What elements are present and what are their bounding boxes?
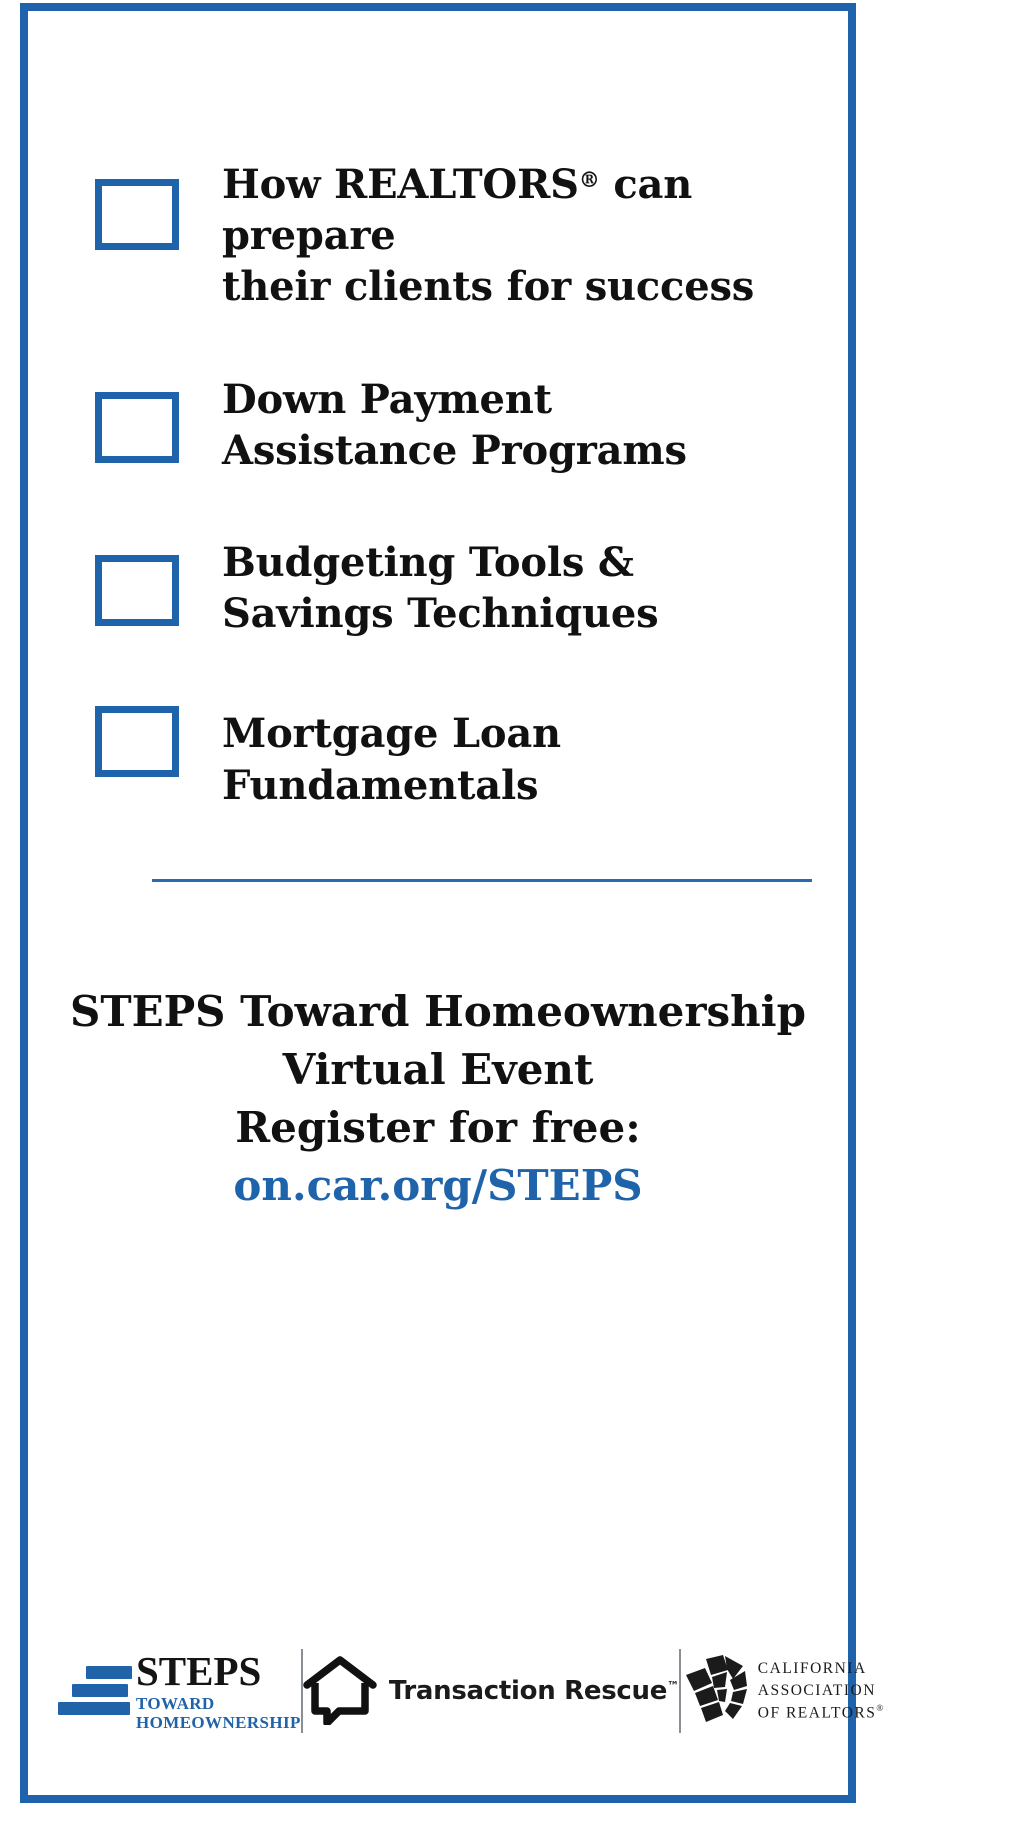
car-logo: CALIFORNIA ASSOCIATION OF REALTORS® bbox=[681, 1653, 883, 1729]
car-line-1: CALIFORNIA bbox=[758, 1658, 883, 1680]
registered-trademark-icon: ® bbox=[579, 167, 600, 192]
checkbox-icon[interactable] bbox=[95, 392, 179, 463]
steps-logo: STEPS TOWARD HOMEOWNERSHIP bbox=[58, 1651, 301, 1731]
checklist-item-label: Down Payment Assistance Programs bbox=[222, 374, 687, 476]
registered-trademark-icon: ® bbox=[876, 1703, 883, 1713]
trademark-icon: ™ bbox=[667, 1679, 679, 1693]
checkbox-icon[interactable] bbox=[95, 706, 179, 777]
car-line-3-text: OF REALTORS bbox=[758, 1704, 877, 1721]
event-registration-link[interactable]: on.car.org/STEPS bbox=[28, 1157, 848, 1215]
checkbox-icon[interactable] bbox=[95, 555, 179, 626]
car-line-2: ASSOCIATION bbox=[758, 1680, 883, 1702]
poster-canvas: How REALTORS® can prepare their clients … bbox=[0, 0, 1021, 1827]
checklist-item-label: Budgeting Tools & Savings Techniques bbox=[222, 537, 659, 639]
steps-logo-wordmark: STEPS bbox=[136, 1651, 301, 1692]
checklist-item-down-payment-assistance[interactable]: Down Payment Assistance Programs bbox=[95, 374, 855, 476]
steps-logo-subline-2: HOMEOWNERSHIP bbox=[136, 1714, 301, 1731]
footer-logo-bar: STEPS TOWARD HOMEOWNERSHIP Transacti bbox=[58, 1641, 818, 1741]
checklist-item-prepare-clients[interactable]: How REALTORS® can prepare their clients … bbox=[95, 159, 855, 313]
steps-logo-subline-1: TOWARD bbox=[136, 1695, 301, 1712]
event-title-line-2: Virtual Event bbox=[28, 1041, 848, 1099]
staircase-bars-icon bbox=[58, 1666, 132, 1717]
poster-inner-content: How REALTORS® can prepare their clients … bbox=[28, 11, 848, 1795]
california-bear-shards-icon bbox=[681, 1653, 747, 1729]
transaction-rescue-wordmark: Transaction Rescue™ bbox=[389, 1676, 679, 1706]
checklist-item-mortgage-loan-fundamentals[interactable]: Mortgage Loan Fundamentals bbox=[95, 700, 855, 810]
car-line-3: OF REALTORS® bbox=[758, 1702, 883, 1724]
event-details: STEPS Toward Homeownership Virtual Event… bbox=[28, 983, 848, 1215]
checkbox-icon[interactable] bbox=[95, 179, 179, 250]
transaction-rescue-text: Transaction Rescue bbox=[389, 1676, 667, 1706]
checklist-item-budgeting-tools[interactable]: Budgeting Tools & Savings Techniques bbox=[95, 537, 855, 639]
checklist-item-label: How REALTORS® can prepare their clients … bbox=[222, 159, 855, 313]
car-wordmark: CALIFORNIA ASSOCIATION OF REALTORS® bbox=[758, 1658, 883, 1724]
event-register-prompt: Register for free: bbox=[28, 1099, 848, 1157]
house-speech-bubble-icon bbox=[303, 1653, 377, 1729]
event-title-line-1: STEPS Toward Homeownership bbox=[28, 983, 848, 1041]
checklist-item-label: Mortgage Loan Fundamentals bbox=[222, 700, 855, 810]
checklist-item-label-text: How REALTORS bbox=[222, 161, 579, 208]
horizontal-divider bbox=[152, 879, 812, 882]
transaction-rescue-logo: Transaction Rescue™ bbox=[303, 1653, 679, 1729]
checklist: How REALTORS® can prepare their clients … bbox=[95, 159, 855, 811]
